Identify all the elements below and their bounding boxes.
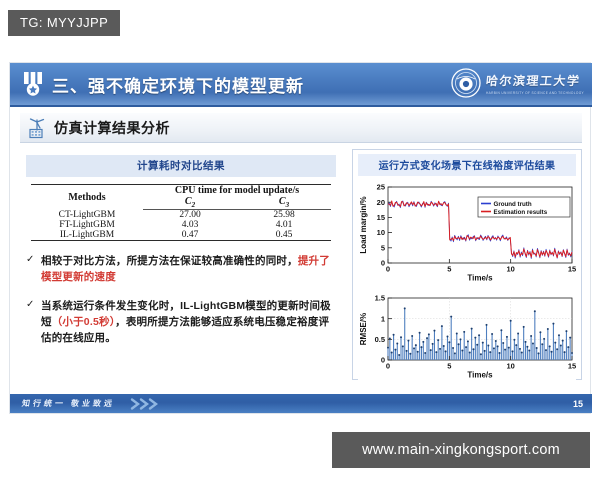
svg-text:0: 0 [386,362,390,371]
table-caption: 计算耗时对比结果 [26,155,336,177]
bullet-text: 相较于对比方法，所提方法在保证较高准确性的同时，提升了模型更新的速度 [41,253,338,286]
checkmark-icon: ✓ [26,298,41,310]
svg-text:1.5: 1.5 [375,294,385,303]
svg-text:0: 0 [381,259,385,268]
rmse-chart: 00.511.5051015Time/sRMSE/% [358,292,576,385]
page-title: 三、强不确定环境下的模型更新 [52,72,304,97]
svg-text:15: 15 [568,265,576,274]
svg-text:10: 10 [506,265,514,274]
cell-c2: 4.03 [143,220,237,230]
bullet-text: 当系统运行条件发生变化时，IL-LightGBM模型的更新时间极短（小于0.5秒… [41,298,338,347]
svg-text:Time/s: Time/s [467,371,493,380]
bullet-text-highlight: （小于0.5秒） [52,316,115,328]
cpu-time-table: Methods CPU time for model update/s C2 C… [31,184,331,241]
svg-text:Load margin/%: Load margin/% [359,196,368,253]
svg-text:1: 1 [381,314,385,323]
svg-text:5: 5 [447,362,451,371]
table-row: IL-LightGBM 0.47 0.45 [31,230,331,241]
slide-canvas: 三、强不确定环境下的模型更新 哈尔滨理工大学 HARBIN UNIVERSITY… [9,62,591,414]
svg-text:0: 0 [386,265,390,274]
table-subheader-c3: C3 [237,196,331,210]
cell-method: CT-LightGBM [31,210,143,221]
cell-method: IL-LightGBM [31,230,143,241]
svg-text:Time/s: Time/s [467,274,493,283]
section-title: 仿真计算结果分析 [54,118,170,138]
cell-c3: 0.45 [237,230,331,241]
left-column: 计算耗时对比结果 Methods CPU time for model upda… [20,149,342,392]
svg-text:15: 15 [568,362,576,371]
cell-c3: 25.98 [237,210,331,221]
right-column: 运行方式变化场景下在线裕度评估结果 0510152025051015Time/s… [352,149,582,380]
cell-c3: 4.01 [237,220,331,230]
svg-text:5: 5 [447,265,451,274]
university-logo: 哈尔滨理工大学 HARBIN UNIVERSITY OF SCIENCE AND… [451,68,584,98]
bullet-list: ✓ 相较于对比方法，所提方法在保证较高准确性的同时，提升了模型更新的速度 ✓ 当… [26,253,338,346]
cell-method: FT-LightGBM [31,220,143,230]
chart-caption: 运行方式变化场景下在线裕度评估结果 [358,154,576,176]
svg-text:0.5: 0.5 [375,335,385,344]
table-row: FT-LightGBM 4.03 4.01 [31,220,331,230]
cell-c2: 27.00 [143,210,237,221]
svg-text:15: 15 [377,213,385,222]
svg-text:Estimation results: Estimation results [494,209,548,216]
svg-text:0: 0 [381,356,385,365]
load-margin-chart-svg: 0510152025051015Time/sLoad margin/%Groun… [358,181,578,283]
rmse-chart-svg: 00.511.5051015Time/sRMSE/% [358,292,578,380]
svg-text:20: 20 [377,198,385,207]
svg-text:25: 25 [377,183,385,192]
checkmark-icon: ✓ [26,253,41,265]
medal-icon [16,71,50,97]
svg-text:10: 10 [506,362,514,371]
bullet-text-plain: 相较于对比方法，所提方法在保证较高准确性的同时， [41,255,298,267]
table-row: CT-LightGBM 27.00 25.98 [31,210,331,221]
section-title-bar: 仿真计算结果分析 [20,113,582,143]
power-plant-icon [20,117,54,139]
svg-text:10: 10 [377,228,385,237]
slide-body: 计算耗时对比结果 Methods CPU time for model upda… [20,149,582,392]
tg-watermark-tag: TG: MYYJJPP [8,10,120,36]
slide-screenshot: TG: MYYJJPP 三、强不确定环境下的模型更新 [0,0,600,480]
page-number: 15 [573,399,583,409]
site-watermark-text: www.main-xingkongsport.com [356,440,566,460]
list-item: ✓ 当系统运行条件发生变化时，IL-LightGBM模型的更新时间极短（小于0.… [26,298,338,347]
university-name-en: HARBIN UNIVERSITY OF SCIENCE AND TECHNOL… [486,91,584,95]
list-item: ✓ 相较于对比方法，所提方法在保证较高准确性的同时，提升了模型更新的速度 [26,253,338,286]
slide-footer: 知行统一 敬业致远 15 [10,394,592,413]
svg-text:Ground truth: Ground truth [494,201,532,208]
table-header-methods: Methods [31,185,143,210]
chevron-triple-right-icon [129,397,163,411]
university-name-cn: 哈尔滨理工大学 [485,72,585,89]
svg-text:5: 5 [381,243,385,252]
cell-c2: 0.47 [143,230,237,241]
load-margin-chart: 0510152025051015Time/sLoad margin/%Groun… [358,181,576,288]
slide-header: 三、强不确定环境下的模型更新 哈尔滨理工大学 HARBIN UNIVERSITY… [10,63,592,107]
site-watermark: www.main-xingkongsport.com [332,432,590,468]
footer-motto: 知行统一 敬业致远 [21,398,116,409]
svg-text:RMSE/%: RMSE/% [359,313,368,345]
table-subheader-c2: C2 [143,196,237,210]
table-header-cpu-time: CPU time for model update/s [143,185,331,197]
university-seal-icon [451,68,481,98]
